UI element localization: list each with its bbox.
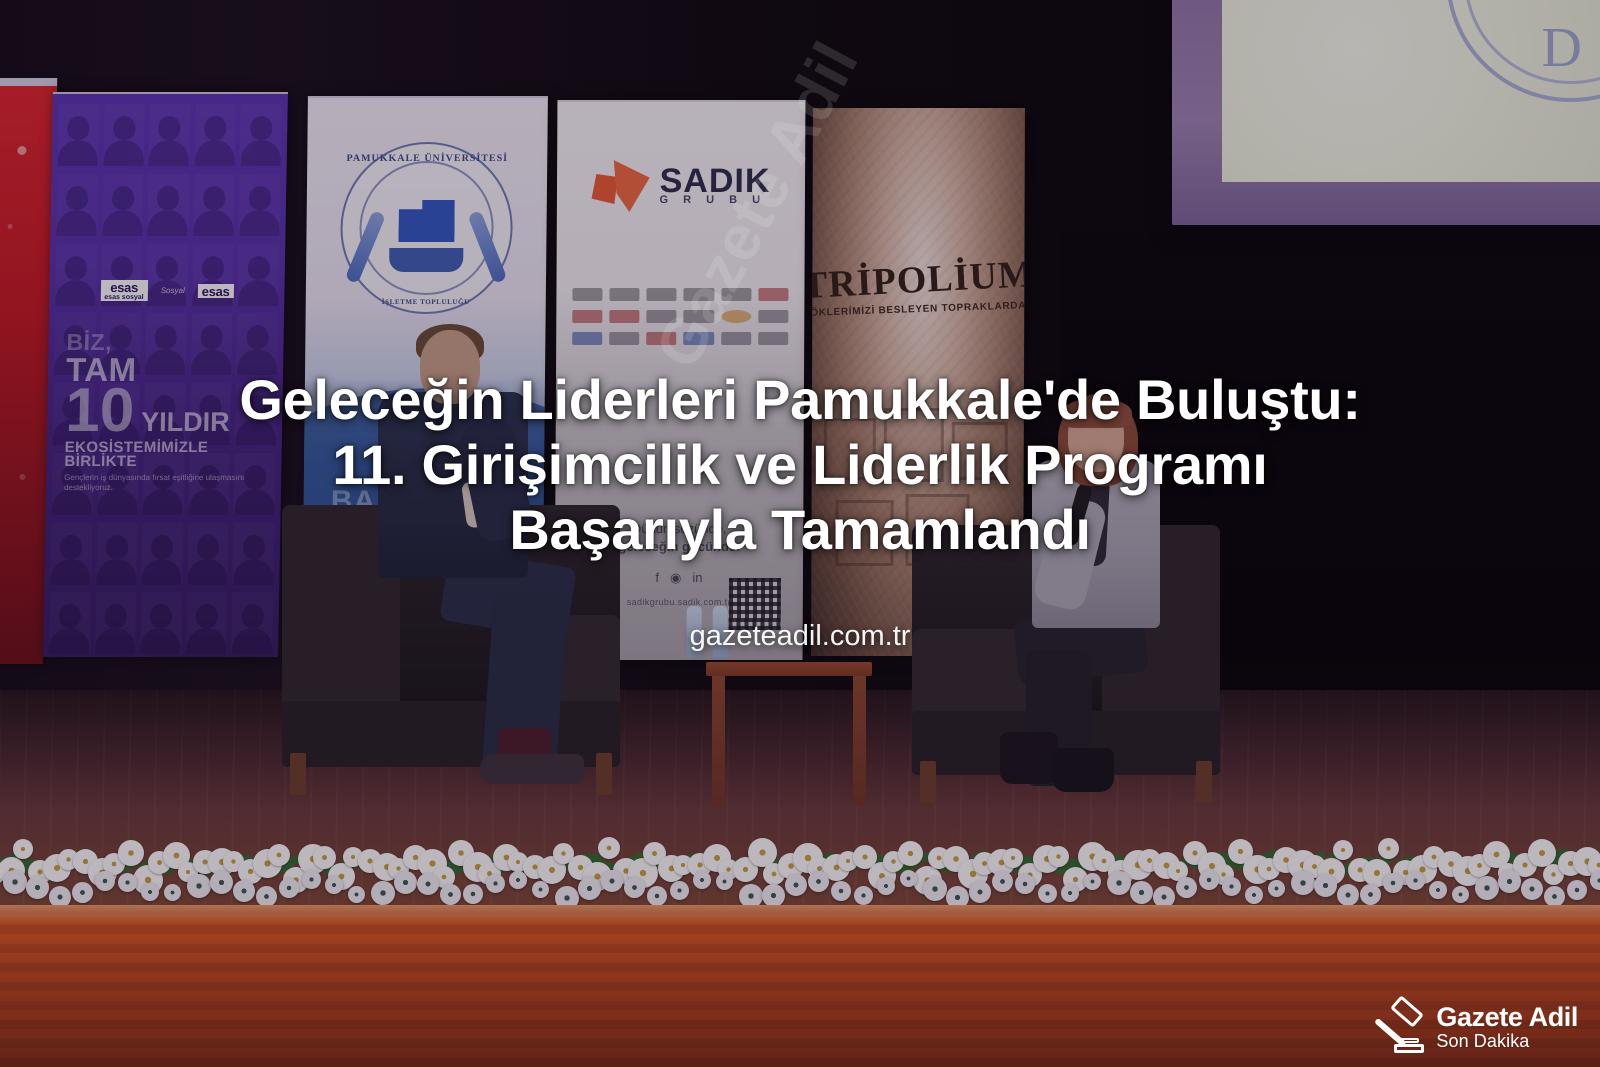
logo-tagline: Son Dakika (1436, 1032, 1578, 1050)
logo-name: Gazete Adil (1436, 1004, 1578, 1032)
gazete-adil-logo[interactable]: Gazete Adil Son Dakika (1378, 1001, 1578, 1053)
headline-line-1: Geleceğin Liderleri Pamukkale'de Buluştu… (0, 368, 1600, 433)
gavel-icon (1378, 1001, 1426, 1053)
news-photo-stage: D esas esas sosyal Sosyal esas (0, 0, 1600, 1067)
headline-line-2: 11. Girişimcilik ve Liderlik Programı (0, 433, 1600, 498)
page-title: Geleceğin Liderleri Pamukkale'de Buluştu… (0, 368, 1600, 563)
site-url-overlay: gazeteadil.com.tr (0, 620, 1600, 653)
logo-text: Gazete Adil Son Dakika (1436, 1004, 1578, 1050)
headline-line-3: Başarıyla Tamamlandı (0, 498, 1600, 563)
